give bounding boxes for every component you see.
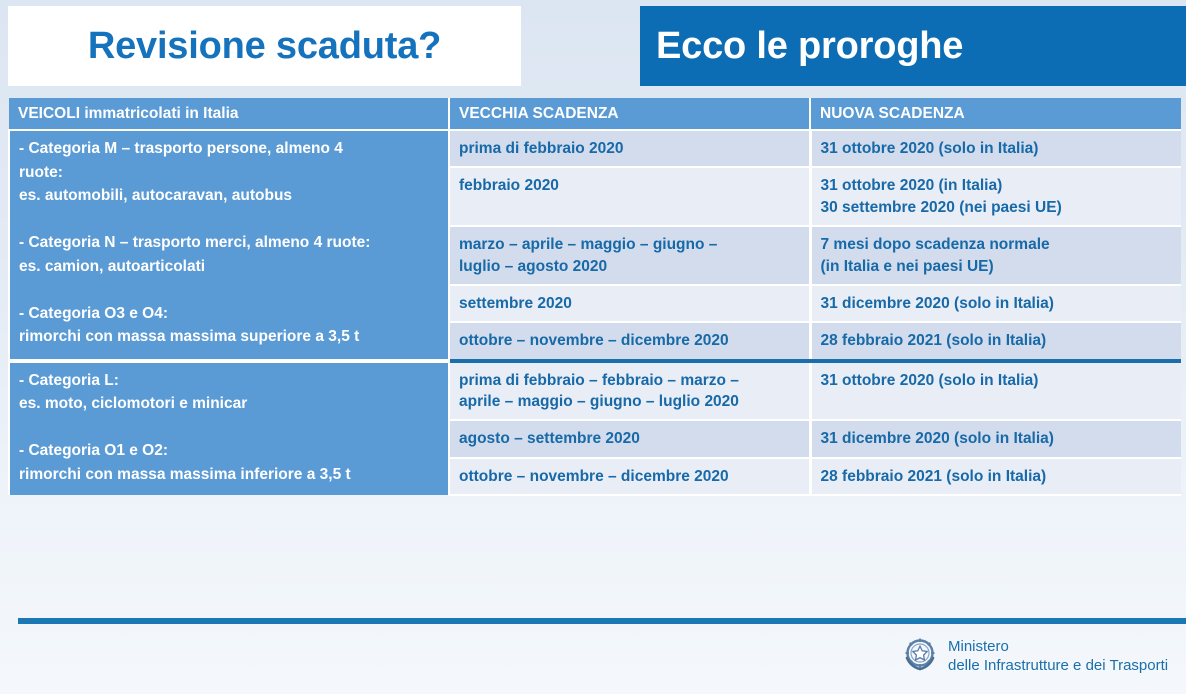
category-line: [19, 416, 440, 440]
table-header-row: VEICOLI immatricolati in Italia VECCHIA …: [9, 98, 1181, 130]
old-scadenza-cell: prima di febbraio 2020: [449, 130, 810, 167]
date-line: agosto – settembre 2020: [459, 428, 801, 449]
date-line: ottobre – novembre – dicembre 2020: [459, 330, 801, 351]
new-scadenza-cell: 31 ottobre 2020 (solo in Italia): [810, 130, 1181, 167]
category-line: - Categoria N – trasporto merci, almeno …: [19, 231, 440, 255]
new-scadenza-cell: 31 ottobre 2020 (solo in Italia): [810, 361, 1181, 421]
table-row: - Categoria L:es. moto, ciclomotori e mi…: [9, 361, 1181, 421]
category-line: ruote:: [19, 161, 440, 185]
ministry-logo-line2: delle Infrastrutture e dei Trasporti: [948, 656, 1168, 675]
date-line: marzo – aprile – maggio – giugno –: [459, 234, 801, 255]
category-cell: - Categoria M – trasporto persone, almen…: [9, 130, 449, 361]
new-scadenza-cell: 28 febbraio 2021 (solo in Italia): [810, 458, 1181, 495]
column-header-nuova-scadenza: NUOVA SCADENZA: [810, 98, 1181, 130]
new-scadenza-cell: 31 dicembre 2020 (solo in Italia): [810, 285, 1181, 322]
date-line: luglio – agosto 2020: [459, 256, 801, 277]
category-line: - Categoria O1 e O2:: [19, 439, 440, 463]
date-line: febbraio 2020: [459, 175, 801, 196]
date-line: 31 ottobre 2020 (in Italia): [821, 175, 1174, 196]
date-line: ottobre – novembre – dicembre 2020: [459, 466, 801, 487]
date-line: 31 dicembre 2020 (solo in Italia): [821, 293, 1174, 314]
date-line: prima di febbraio – febbraio – marzo –: [459, 370, 801, 391]
date-line: 28 febbraio 2021 (solo in Italia): [821, 466, 1174, 487]
old-scadenza-cell: ottobre – novembre – dicembre 2020: [449, 322, 810, 360]
column-header-veicoli: VEICOLI immatricolati in Italia: [9, 98, 449, 130]
new-scadenza-cell: 7 mesi dopo scadenza normale(in Italia e…: [810, 226, 1181, 285]
ministry-logo-text: Ministero delle Infrastrutture e dei Tra…: [948, 637, 1168, 675]
date-line: 31 dicembre 2020 (solo in Italia): [821, 428, 1174, 449]
category-cell: - Categoria L:es. moto, ciclomotori e mi…: [9, 361, 449, 496]
category-line: - Categoria M – trasporto persone, almen…: [19, 137, 440, 161]
date-line: 31 ottobre 2020 (solo in Italia): [821, 138, 1174, 159]
title-band: Revisione scaduta? Ecco le proroghe: [0, 0, 1186, 92]
category-line: - Categoria O3 e O4:: [19, 302, 440, 326]
category-line: es. camion, autoarticolati: [19, 255, 440, 279]
category-line: - Categoria L:: [19, 369, 440, 393]
proroghe-table: VEICOLI immatricolati in Italia VECCHIA …: [8, 98, 1181, 496]
table-row: - Categoria M – trasporto persone, almen…: [9, 130, 1181, 167]
table-body: - Categoria M – trasporto persone, almen…: [9, 130, 1181, 495]
old-scadenza-cell: febbraio 2020: [449, 167, 810, 226]
date-line: 30 settembre 2020 (nei paesi UE): [821, 197, 1174, 218]
category-line: es. moto, ciclomotori e minicar: [19, 392, 440, 416]
date-line: aprile – maggio – giugno – luglio 2020: [459, 391, 801, 412]
title-left-text: Revisione scaduta?: [88, 25, 441, 68]
category-line: [19, 208, 440, 232]
ministry-logo-line1: Ministero: [948, 637, 1168, 656]
date-line: 7 mesi dopo scadenza normale: [821, 234, 1174, 255]
footer-divider-rule: [18, 618, 1186, 624]
ministry-logo: Ministero delle Infrastrutture e dei Tra…: [900, 628, 1186, 684]
italian-republic-emblem-icon: [900, 634, 940, 679]
new-scadenza-cell: 31 dicembre 2020 (solo in Italia): [810, 420, 1181, 457]
date-line: 28 febbraio 2021 (solo in Italia): [821, 330, 1174, 351]
date-line: prima di febbraio 2020: [459, 138, 801, 159]
date-line: 31 ottobre 2020 (solo in Italia): [821, 370, 1174, 391]
category-line: [19, 278, 440, 302]
category-line: rimorchi con massa massima superiore a 3…: [19, 325, 440, 349]
date-line: (in Italia e nei paesi UE): [821, 256, 1174, 277]
title-right-text: Ecco le proroghe: [640, 25, 963, 68]
old-scadenza-cell: agosto – settembre 2020: [449, 420, 810, 457]
title-left-banner: Revisione scaduta?: [8, 6, 521, 86]
category-line: rimorchi con massa massima inferiore a 3…: [19, 463, 440, 487]
new-scadenza-cell: 28 febbraio 2021 (solo in Italia): [810, 322, 1181, 360]
new-scadenza-cell: 31 ottobre 2020 (in Italia)30 settembre …: [810, 167, 1181, 226]
date-line: settembre 2020: [459, 293, 801, 314]
category-line: es. automobili, autocaravan, autobus: [19, 184, 440, 208]
old-scadenza-cell: prima di febbraio – febbraio – marzo –ap…: [449, 361, 810, 421]
column-header-vecchia-scadenza: VECCHIA SCADENZA: [449, 98, 810, 130]
old-scadenza-cell: ottobre – novembre – dicembre 2020: [449, 458, 810, 495]
old-scadenza-cell: settembre 2020: [449, 285, 810, 322]
title-right-banner: Ecco le proroghe: [640, 6, 1186, 86]
old-scadenza-cell: marzo – aprile – maggio – giugno –luglio…: [449, 226, 810, 285]
